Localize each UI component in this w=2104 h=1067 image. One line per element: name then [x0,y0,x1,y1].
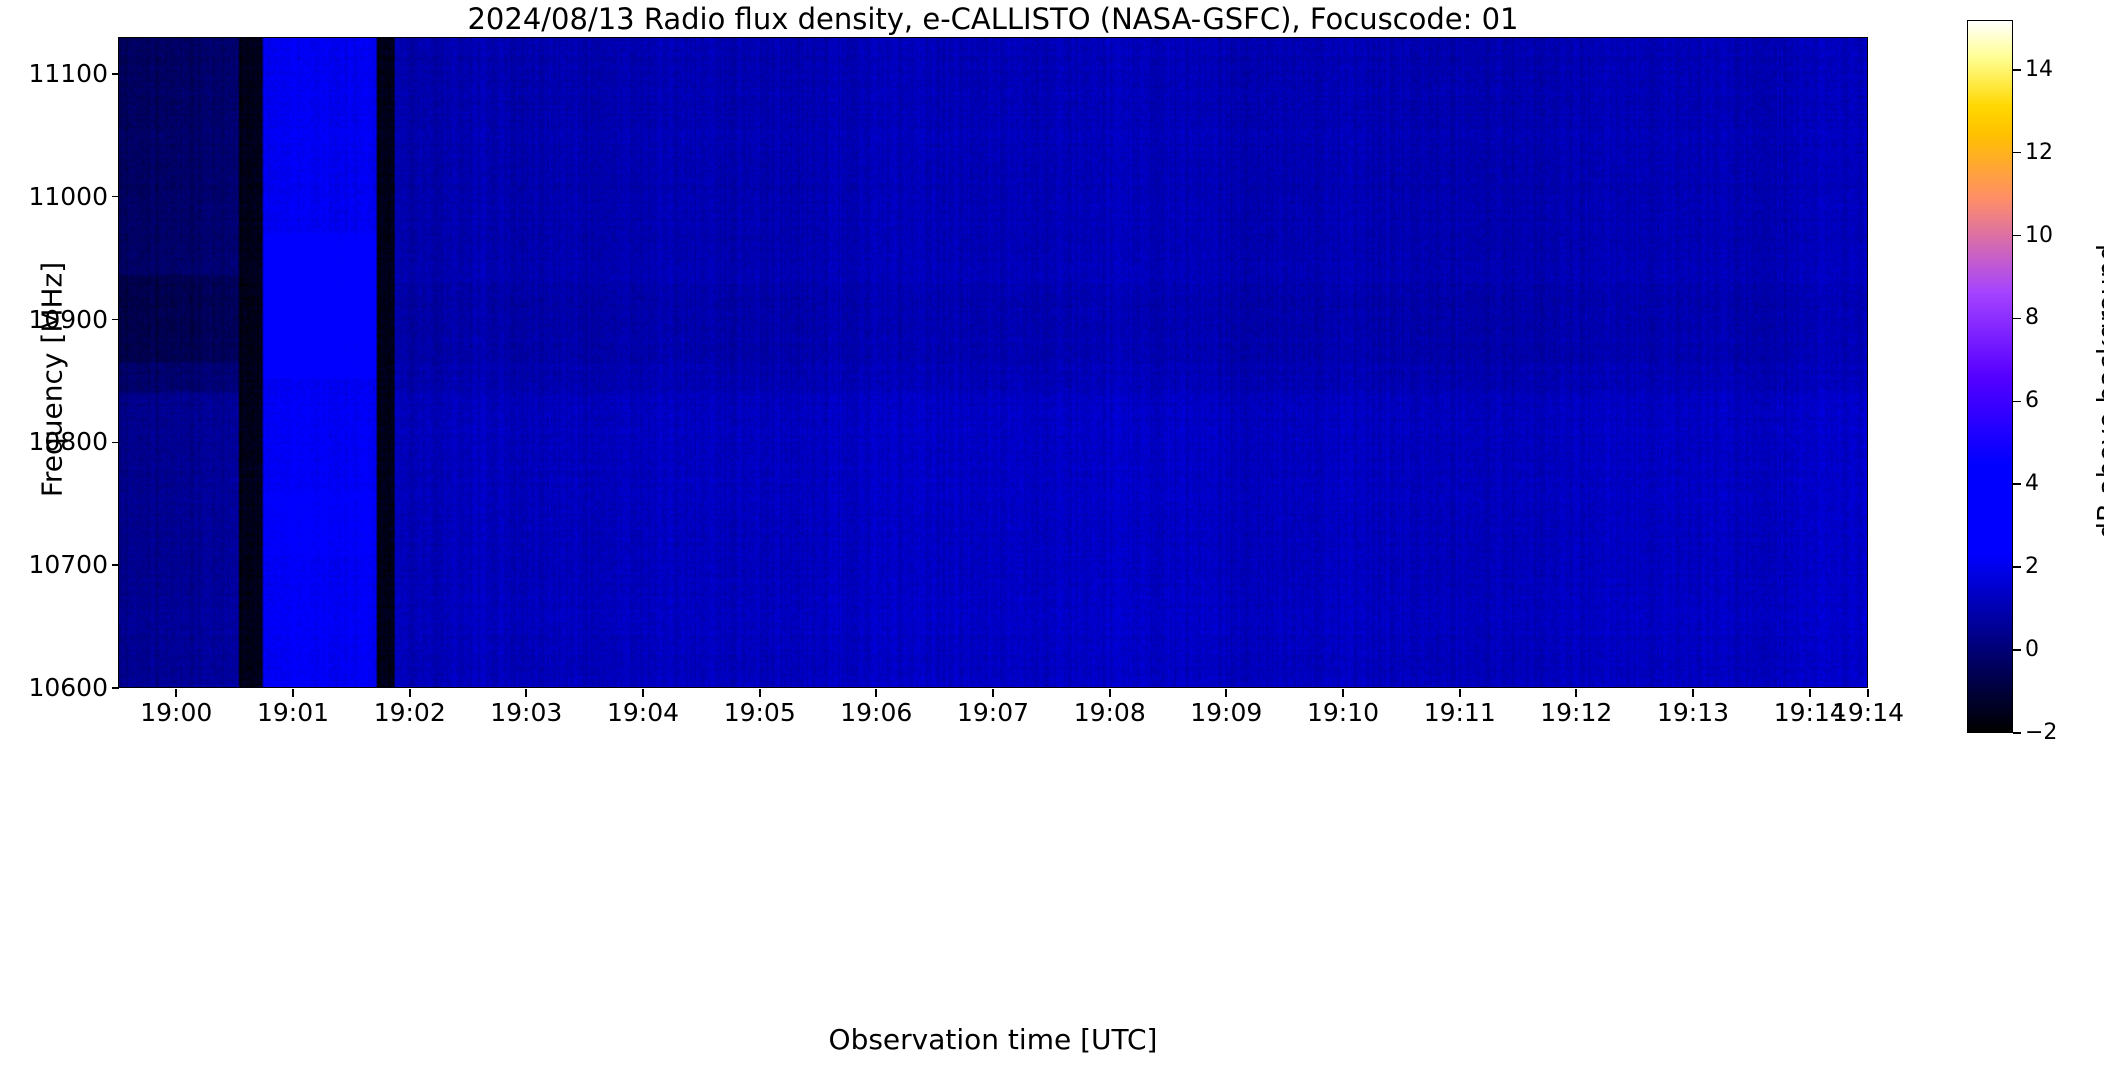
colorbar-tick-label: 14 [2025,59,2053,81]
x-tick-mark [1459,689,1461,697]
x-tick-mark [1809,689,1811,697]
x-tick-mark [409,689,411,697]
x-tick-label: 19:05 [700,700,820,726]
colorbar-tick-mark [2013,152,2021,154]
colorbar-tick-label: 10 [2025,225,2053,247]
x-tick-label: 19:11 [1400,700,1520,726]
colorbar-tick-mark [2013,235,2021,237]
spectrogram-figure: 2024/08/13 Radio flux density, e-CALLIST… [0,0,2104,1067]
x-tick-label: 19:00 [116,700,236,726]
x-tick-label: 19:07 [933,700,1053,726]
x-tick-mark [1867,689,1869,697]
x-tick-label: 19:06 [816,700,936,726]
x-tick-label: 19:10 [1283,700,1403,726]
x-tick-mark [759,689,761,697]
colorbar[interactable] [1967,20,2013,733]
x-tick-label: 19:12 [1516,700,1636,726]
chart-title: 2024/08/13 Radio flux density, e-CALLIST… [118,2,1868,36]
colorbar-tick-mark [2013,483,2021,485]
y-tick-mark [112,319,119,321]
colorbar-gradient [1967,20,2013,733]
x-tick-mark [1225,689,1227,697]
colorbar-tick-label: 4 [2025,473,2039,495]
colorbar-label: dB above background [2093,162,2104,622]
x-tick-label: 19:03 [466,700,586,726]
x-tick-mark [175,689,177,697]
x-tick-label: 19:14 [1808,700,1928,726]
colorbar-tick-label: 12 [2025,142,2053,164]
x-tick-mark [1109,689,1111,697]
x-tick-mark [1575,689,1577,697]
x-tick-label: 19:13 [1633,700,1753,726]
y-tick-mark [112,687,119,689]
x-tick-label: 19:08 [1050,700,1170,726]
colorbar-tick-mark [2013,401,2021,403]
x-tick-mark [875,689,877,697]
colorbar-tick-mark [2013,69,2021,71]
colorbar-tick-label: 6 [2025,390,2039,412]
y-tick-mark [112,442,119,444]
y-tick-mark [112,73,119,75]
colorbar-tick-label: 0 [2025,639,2039,661]
x-tick-mark [992,689,994,697]
x-axis-label: Observation time [UTC] [118,1023,1868,1056]
y-tick-mark [112,564,119,566]
colorbar-tick-mark [2013,318,2021,320]
x-tick-mark [1342,689,1344,697]
x-tick-mark [642,689,644,697]
colorbar-tick-mark [2013,649,2021,651]
colorbar-tick-label: 8 [2025,307,2039,329]
colorbar-tick-label: −2 [2025,722,2057,744]
y-axis-label: Frequency [MHz] [36,60,69,700]
colorbar-tick-mark [2013,566,2021,568]
x-tick-mark [525,689,527,697]
y-tick-mark [112,196,119,198]
x-tick-mark [1692,689,1694,697]
x-tick-label: 19:01 [233,700,353,726]
spectrogram-heatmap [119,38,1867,687]
colorbar-tick-label: 2 [2025,556,2039,578]
x-tick-label: 19:04 [583,700,703,726]
colorbar-tick-mark [2013,732,2021,734]
x-tick-label: 19:09 [1166,700,1286,726]
x-tick-label: 19:02 [350,700,470,726]
spectrogram-plot-area[interactable] [118,37,1868,688]
x-tick-mark [292,689,294,697]
